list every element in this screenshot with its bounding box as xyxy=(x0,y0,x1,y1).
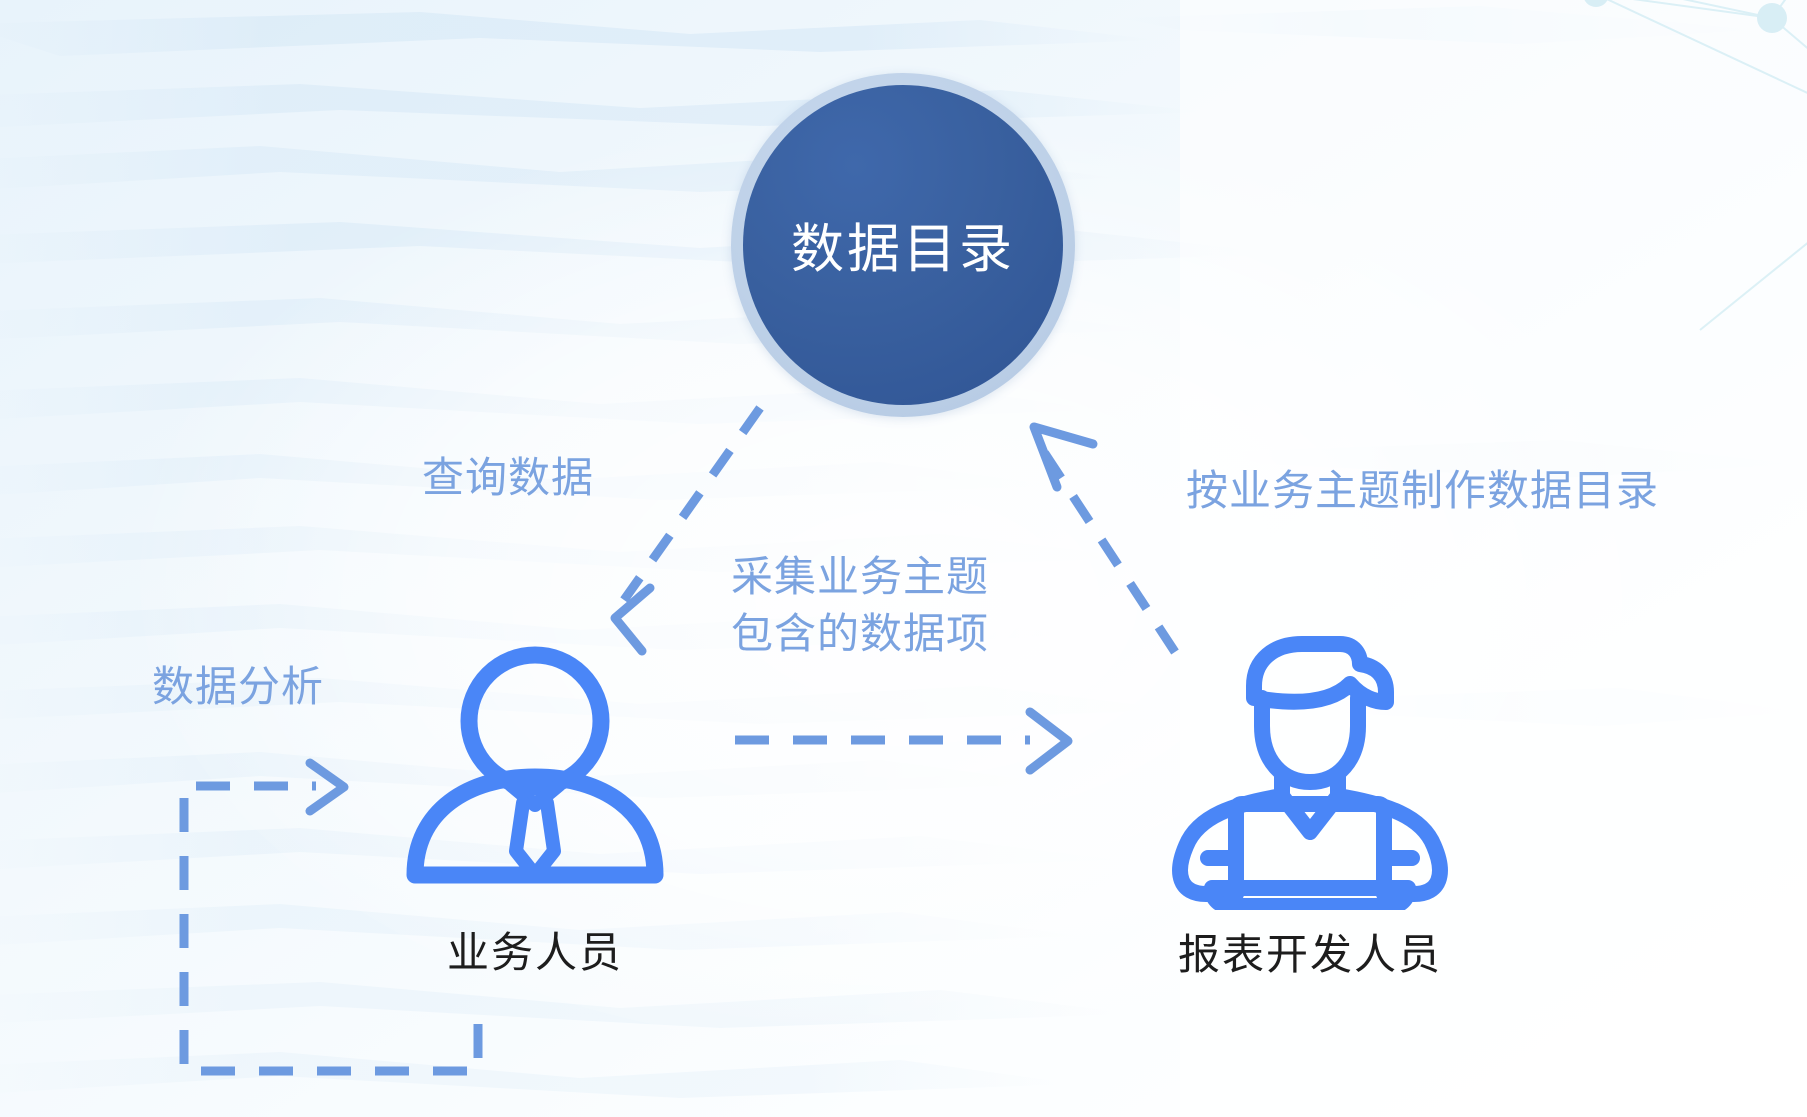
actor-report-developer-label: 报表开发人员 xyxy=(1150,921,1470,982)
edge-label-analysis: 数据分析 xyxy=(152,658,324,715)
hub-node-data-catalog[interactable]: 数据目录 xyxy=(731,73,1075,417)
hub-node-label: 数据目录 xyxy=(791,207,1015,283)
edge-catalog xyxy=(1034,427,1175,652)
business-person-icon xyxy=(385,643,685,908)
report-developer-icon xyxy=(1150,620,1470,910)
edge-label-collect-line2: 包含的数据项 xyxy=(731,605,989,662)
diagram-canvas: 数据目录 查询数据 按业务主题制作数据目录 采集业务主题 包含的数据项 数据分析… xyxy=(0,0,1807,1117)
hub-node-circle: 数据目录 xyxy=(743,85,1063,405)
actor-business-person-label: 业务人员 xyxy=(385,919,685,980)
edge-label-collect-line1: 采集业务主题 xyxy=(731,548,989,605)
actor-business-person[interactable]: 业务人员 xyxy=(385,643,685,980)
edge-collect xyxy=(735,712,1068,770)
edge-label-query: 查询数据 xyxy=(422,449,594,506)
edge-label-catalog: 按业务主题制作数据目录 xyxy=(1186,462,1659,519)
edge-label-collect: 采集业务主题 包含的数据项 xyxy=(731,548,989,662)
actor-report-developer[interactable]: 报表开发人员 xyxy=(1150,620,1470,982)
